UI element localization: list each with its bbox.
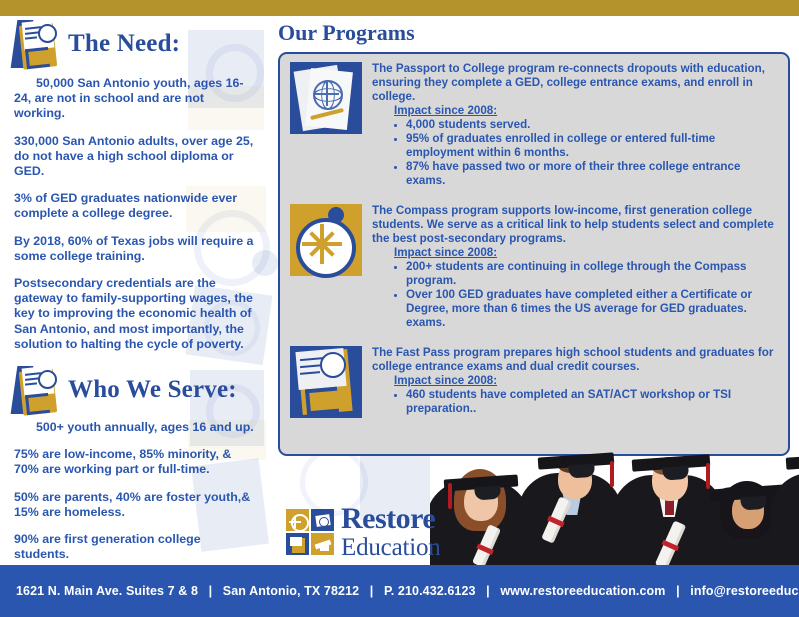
footer-separator: | <box>363 584 381 598</box>
compass-icon <box>290 204 362 276</box>
graduate-figure <box>770 433 799 565</box>
program-bullet: 95% of graduates enrolled in college or … <box>392 132 778 160</box>
footer-separator: | <box>479 584 497 598</box>
program-bullets: 460 students have completed an SAT/ACT w… <box>372 388 778 416</box>
program-impact-label: Impact since 2008: <box>394 246 778 260</box>
footer-website-link[interactable]: www.restoreeducation.com <box>500 584 665 598</box>
need-paragraph-4: By 2018, 60% of Texas jobs will require … <box>14 234 256 264</box>
logo-tile-passport <box>311 509 334 531</box>
program-item: The Fast Pass program prepares high scho… <box>280 332 788 420</box>
right-column: Our Programs The Passport to College pro… <box>272 16 799 50</box>
programs-panel: The Passport to College program re-conne… <box>278 52 790 456</box>
restore-education-logo: Restore Education <box>286 504 441 560</box>
footer-separator: | <box>669 584 687 598</box>
need-paragraph-5: Postsecondary credentials are the gatewa… <box>14 276 256 352</box>
need-paragraph-2: 330,000 San Antonio adults, over age 25,… <box>14 134 256 180</box>
footer-email-link[interactable]: info@restoreeducation.com <box>690 584 799 598</box>
the-need-body: 50,000 San Antonio youth, ages 16-24, ar… <box>0 76 270 352</box>
program-description: The Fast Pass program prepares high scho… <box>372 346 778 374</box>
footer-city: San Antonio, TX 78212 <box>223 584 359 598</box>
logo-name-education: Education <box>341 535 441 560</box>
footer-bar: 1621 N. Main Ave. Suites 7 & 8 | San Ant… <box>0 565 799 617</box>
logo-tile-compass <box>286 509 309 531</box>
footer-separator: | <box>202 584 220 598</box>
the-need-title: The Need: <box>68 30 180 58</box>
logo-tile-badge <box>286 533 309 555</box>
who-we-serve-body: 500+ youth annually, ages 16 and up. 75%… <box>0 420 270 562</box>
footer-phone[interactable]: P. 210.432.6123 <box>384 584 476 598</box>
left-column: The Need: 50,000 San Antonio youth, ages… <box>0 16 270 565</box>
badge-arrow-icon <box>290 346 362 418</box>
program-impact-label: Impact since 2008: <box>394 104 778 118</box>
program-item: The Compass program supports low-income,… <box>280 190 788 332</box>
program-bullet: 200+ students are continuing in college … <box>392 260 778 288</box>
program-description: The Passport to College program re-conne… <box>372 62 778 104</box>
program-bullet: 460 students have completed an SAT/ACT w… <box>392 388 778 416</box>
serve-paragraph-3: 50% are parents, 40% are foster youth,& … <box>14 490 256 520</box>
logo-mark-icon <box>286 509 334 555</box>
badge-arrow-icon <box>14 364 62 416</box>
logo-name-restore: Restore <box>341 504 441 534</box>
who-we-serve-title: Who We Serve: <box>68 376 237 404</box>
program-bullets: 200+ students are continuing in college … <box>372 260 778 330</box>
program-bullet: 4,000 students served. <box>392 118 778 132</box>
program-item: The Passport to College program re-conne… <box>280 54 788 190</box>
need-paragraph-3: 3% of GED graduates nationwide ever comp… <box>14 191 256 221</box>
graduates-photo <box>430 424 799 565</box>
flyer-page: The Need: 50,000 San Antonio youth, ages… <box>0 0 799 617</box>
logo-tile-gradcap <box>311 533 334 555</box>
serve-paragraph-1: 500+ youth annually, ages 16 and up. <box>14 420 256 435</box>
the-need-header: The Need: <box>0 18 270 70</box>
program-bullets: 4,000 students served. 95% of graduates … <box>372 118 778 188</box>
serve-paragraph-2: 75% are low-income, 85% minority, & 70% … <box>14 447 256 477</box>
who-we-serve-header: Who We Serve: <box>0 364 270 416</box>
serve-paragraph-4: 90% are first generation college student… <box>14 532 256 562</box>
program-bullet: Over 100 GED graduates have completed ei… <box>392 288 778 330</box>
top-gold-bar <box>0 0 799 16</box>
program-body: The Fast Pass program prepares high scho… <box>372 346 778 418</box>
our-programs-heading: Our Programs <box>278 20 799 46</box>
program-impact-label: Impact since 2008: <box>394 374 778 388</box>
footer-contact-line: 1621 N. Main Ave. Suites 7 & 8 | San Ant… <box>0 584 799 598</box>
program-description: The Compass program supports low-income,… <box>372 204 778 246</box>
need-paragraph-1: 50,000 San Antonio youth, ages 16-24, ar… <box>14 76 256 122</box>
program-bullet: 87% have passed two or more of their thr… <box>392 160 778 188</box>
badge-arrow-icon <box>14 18 62 70</box>
program-body: The Compass program supports low-income,… <box>372 204 778 330</box>
program-body: The Passport to College program re-conne… <box>372 62 778 188</box>
logo-wordmark: Restore Education <box>341 504 441 560</box>
passport-globe-icon <box>290 62 362 134</box>
footer-address: 1621 N. Main Ave. Suites 7 & 8 <box>16 584 198 598</box>
